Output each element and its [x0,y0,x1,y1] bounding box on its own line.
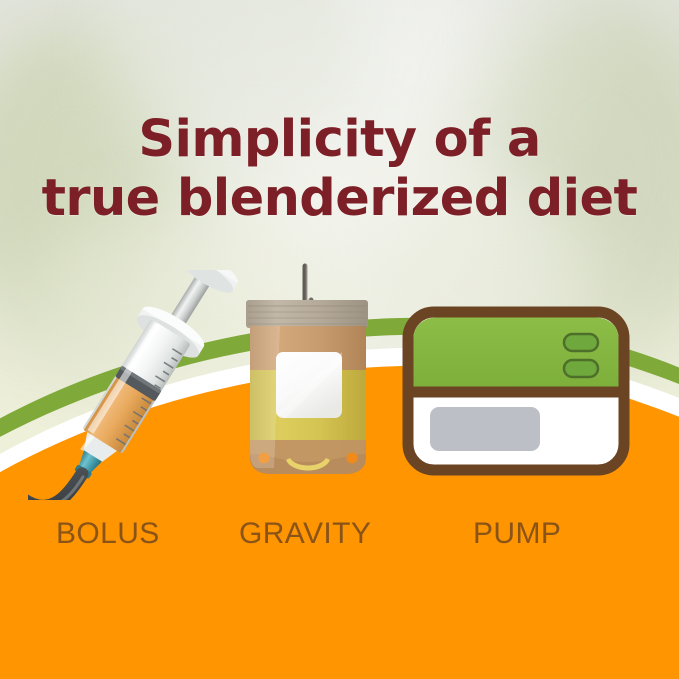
bag-grommet-dot [347,453,358,464]
pump-button-bottom [564,360,598,377]
method-label-bolus: BOLUS [56,517,160,551]
feeding-bag-icon [228,262,388,494]
syringe-icon [28,270,248,500]
page-title-line-1: Simplicity of a [138,110,540,169]
feeding-pump-icon [402,306,630,476]
page-title: Simplicity of a true blenderized diet [0,110,679,228]
pump-screen [430,407,540,451]
method-label-pump: PUMP [473,517,561,551]
method-label-gravity: GRAVITY [239,517,371,551]
pump-top-panel [414,318,619,393]
page-title-line-2: true blenderized diet [0,169,679,228]
poster-canvas: Simplicity of a true blenderized diet [0,0,679,679]
pump-button-top [564,334,598,351]
